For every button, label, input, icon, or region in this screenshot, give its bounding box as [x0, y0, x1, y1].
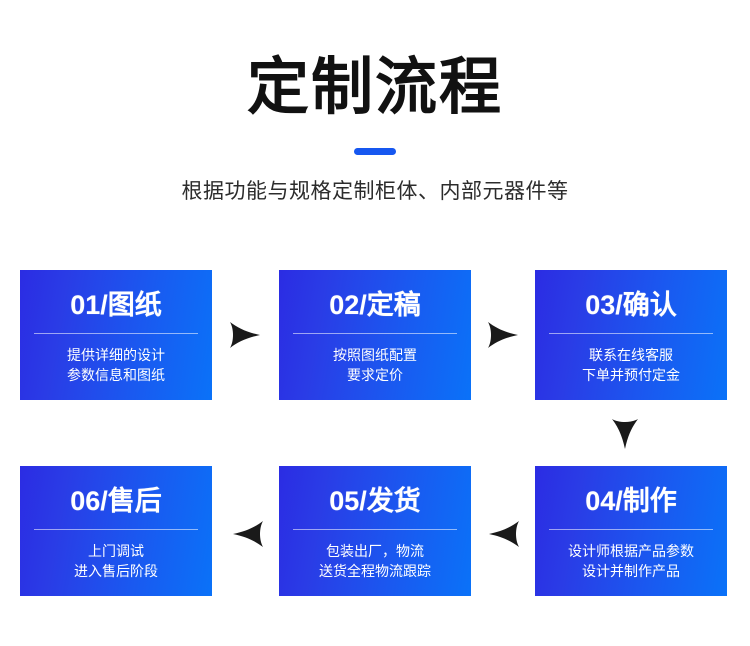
- step-card-04[interactable]: 04/制作 设计师根据产品参数 设计并制作产品: [535, 466, 727, 596]
- step-card-03[interactable]: 03/确认 联系在线客服 下单并预付定金: [535, 270, 727, 400]
- step-card-06[interactable]: 06/售后 上门调试 进入售后阶段: [20, 466, 212, 596]
- step-card-divider: [549, 529, 713, 530]
- step-card-title: 03/确认: [585, 290, 677, 320]
- step-card-title: 05/发货: [329, 486, 421, 516]
- step-card-divider: [34, 529, 198, 530]
- step-card-description-line2: 进入售后阶段: [74, 561, 158, 581]
- step-card-02[interactable]: 02/定稿 按照图纸配置 要求定价: [279, 270, 471, 400]
- step-card-05[interactable]: 05/发货 包装出厂，物流 送货全程物流跟踪: [279, 466, 471, 596]
- process-flow-infographic: 定制流程 根据功能与规格定制柜体、内部元器件等 01/图纸 提供详细的设计 参数…: [0, 0, 750, 646]
- step-card-description-line2: 设计并制作产品: [568, 561, 694, 581]
- step-card-description-line1: 提供详细的设计: [67, 345, 165, 365]
- step-card-description: 设计师根据产品参数 设计并制作产品: [568, 541, 694, 581]
- step-card-description: 联系在线客服 下单并预付定金: [582, 345, 680, 385]
- arrow-down-icon: [610, 417, 640, 451]
- step-card-description: 提供详细的设计 参数信息和图纸: [67, 345, 165, 385]
- step-card-description-line1: 联系在线客服: [582, 345, 680, 365]
- step-card-description: 包装出厂，物流 送货全程物流跟踪: [319, 541, 431, 581]
- step-card-description-line1: 上门调试: [74, 541, 158, 561]
- step-card-description-line1: 包装出厂，物流: [319, 541, 431, 561]
- step-card-description: 按照图纸配置 要求定价: [333, 345, 417, 385]
- step-card-description-line1: 设计师根据产品参数: [568, 541, 694, 561]
- step-card-title: 02/定稿: [329, 290, 421, 320]
- step-card-title: 06/售后: [70, 486, 162, 516]
- step-card-description-line2: 要求定价: [333, 365, 417, 385]
- arrow-left-icon: [231, 519, 265, 549]
- step-card-divider: [34, 333, 198, 334]
- step-card-description-line1: 按照图纸配置: [333, 345, 417, 365]
- step-card-divider: [549, 333, 713, 334]
- step-card-title: 01/图纸: [70, 290, 162, 320]
- arrow-right-icon: [486, 320, 520, 350]
- step-card-01[interactable]: 01/图纸 提供详细的设计 参数信息和图纸: [20, 270, 212, 400]
- step-card-title: 04/制作: [585, 486, 677, 516]
- step-card-divider: [293, 333, 457, 334]
- step-card-description-line2: 下单并预付定金: [582, 365, 680, 385]
- step-card-description-line2: 送货全程物流跟踪: [319, 561, 431, 581]
- step-card-divider: [293, 529, 457, 530]
- step-card-description-line2: 参数信息和图纸: [67, 365, 165, 385]
- flow-diagram: 01/图纸 提供详细的设计 参数信息和图纸 02/定稿 按照图纸配置 要求定价 …: [0, 0, 750, 646]
- step-card-description: 上门调试 进入售后阶段: [74, 541, 158, 581]
- arrow-right-icon: [228, 320, 262, 350]
- arrow-left-icon: [487, 519, 521, 549]
